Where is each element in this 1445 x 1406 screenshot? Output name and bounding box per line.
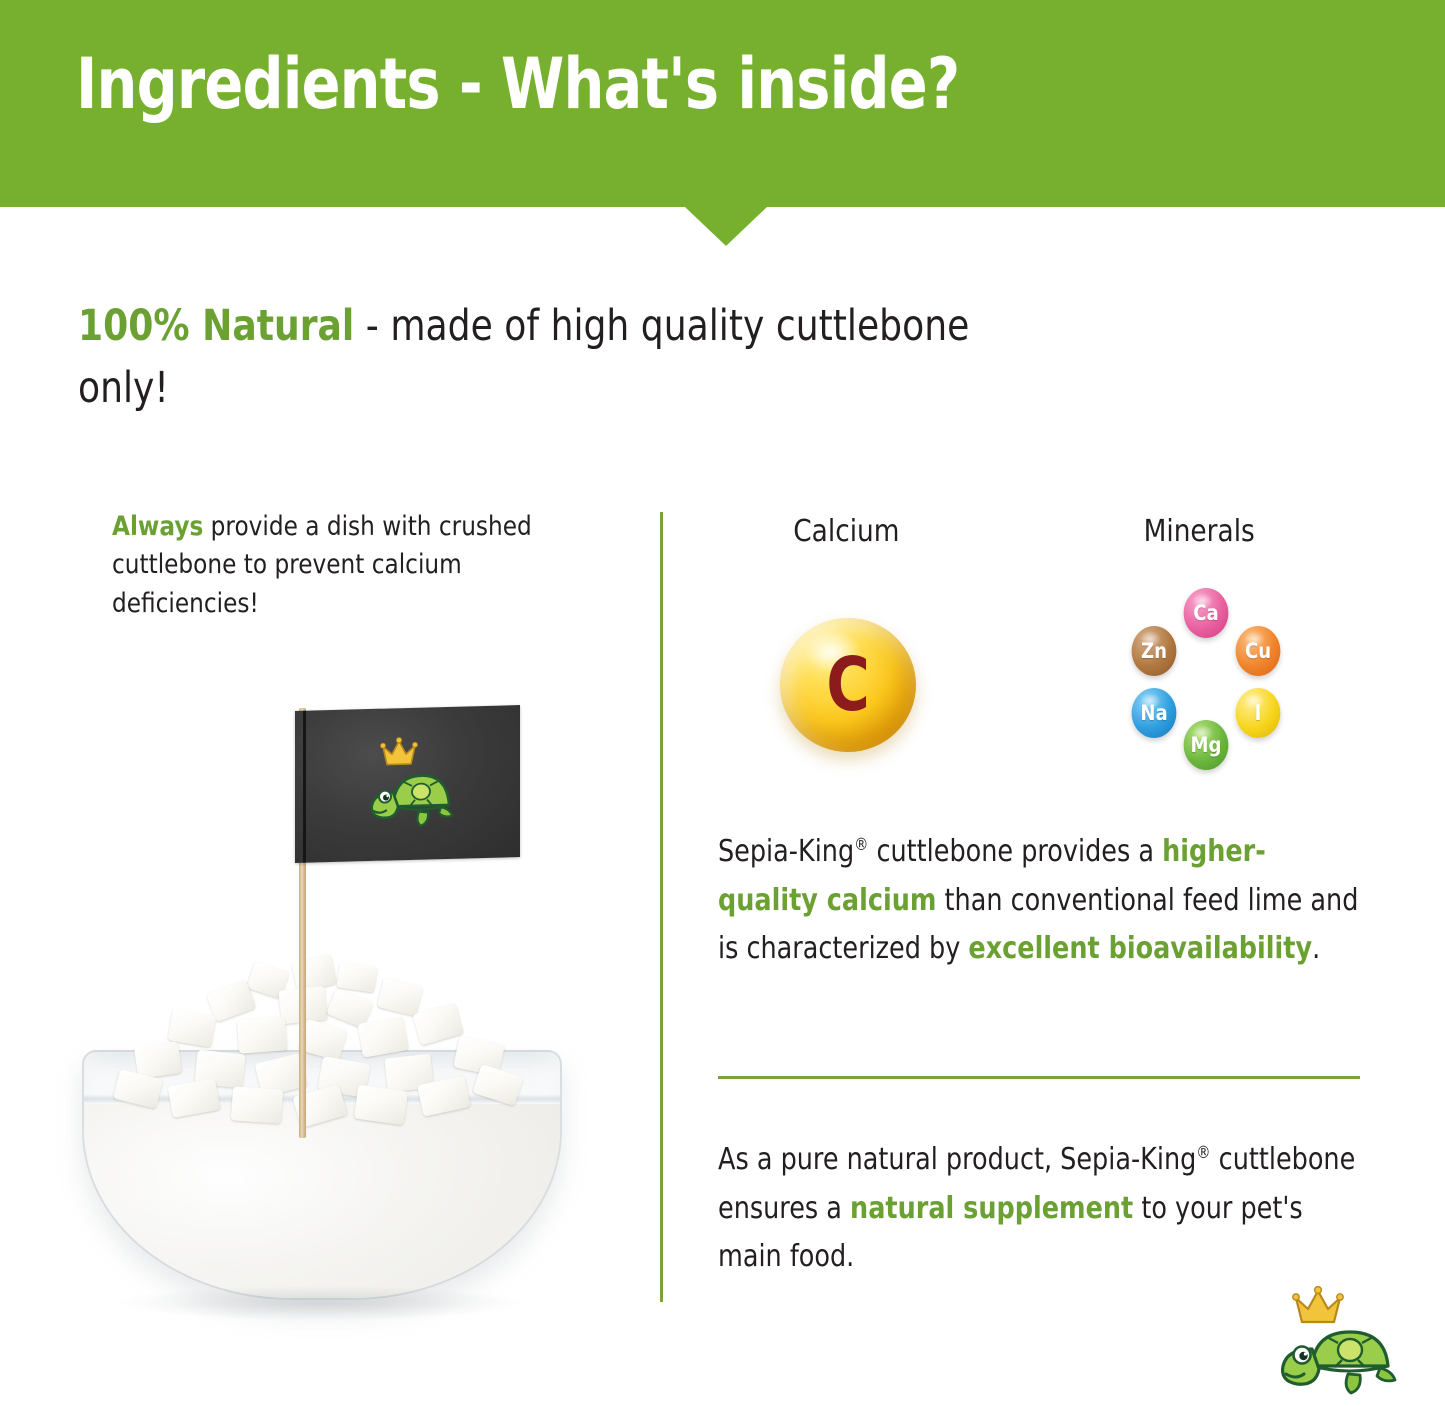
sepia-king-crowned-turtle-logo xyxy=(1262,1286,1412,1398)
calcium-sphere-icon: C xyxy=(780,618,916,752)
quality-paragraph: Sepia-King® cuttlebone provides a higher… xyxy=(718,828,1364,974)
sepia-king-flag xyxy=(295,705,520,863)
bowl-drop-shadow xyxy=(120,1286,520,1320)
always-note-accent: Always xyxy=(112,511,203,542)
always-note: Always provide a dish with crushed cuttl… xyxy=(112,508,611,623)
mineral-sphere-i: I xyxy=(1236,688,1281,738)
mineral-sphere-cu: Cu xyxy=(1236,626,1281,676)
calcium-letter: C xyxy=(826,648,869,722)
banner-notch-triangle xyxy=(685,207,767,246)
supplement-paragraph: As a pure natural product, Sepia-King® c… xyxy=(718,1136,1364,1282)
subtitle: 100% Natural - made of high quality cutt… xyxy=(78,295,977,420)
mineral-sphere-zn: Zn xyxy=(1132,626,1177,676)
minerals-heading: Minerals xyxy=(1144,514,1255,549)
minerals-cluster-icon: Ca Zn Cu Na I Mg xyxy=(1118,588,1288,770)
mineral-sphere-ca: Ca xyxy=(1184,588,1229,638)
mineral-sphere-na: Na xyxy=(1132,688,1177,738)
turtle-logo-icon xyxy=(353,732,465,835)
mineral-sphere-mg: Mg xyxy=(1184,720,1229,770)
calcium-heading: Calcium xyxy=(793,514,899,549)
left-column: Always provide a dish with crushed cuttl… xyxy=(112,508,612,623)
cuttlebone-bowl-image xyxy=(60,690,600,1310)
header-banner: Ingredients - What's inside? xyxy=(0,0,1445,207)
crushed-cuttlebone-heap xyxy=(98,956,548,1136)
horizontal-divider xyxy=(718,1076,1360,1079)
page-title: Ingredients - What's inside? xyxy=(76,48,959,122)
vertical-divider xyxy=(660,512,663,1302)
subtitle-accent: 100% Natural xyxy=(78,301,354,351)
